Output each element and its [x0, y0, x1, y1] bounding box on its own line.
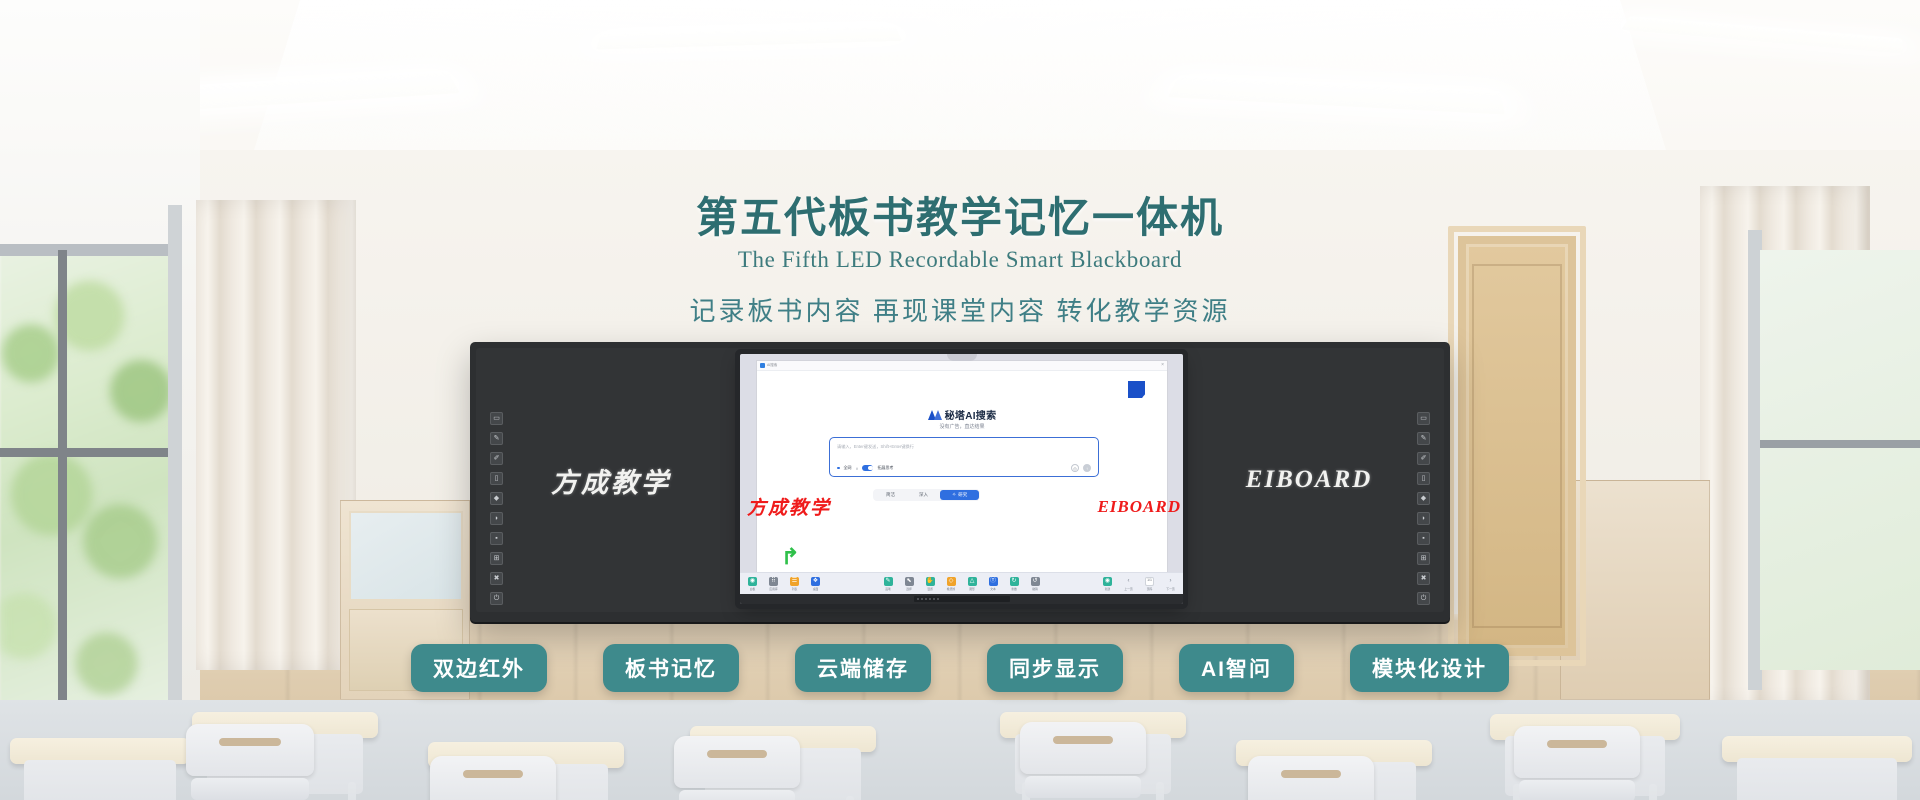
chevron-right-icon: › [1166, 577, 1175, 586]
toolbar-center-group[interactable]: ✎ 画笔 ⬉ 选择 ✋ 漫游 ◇ 橡皮擦 △ 图形 Ⓣ 文本 [881, 577, 1043, 591]
shape-icon: △ [968, 577, 977, 586]
tool-pan[interactable]: ✋ 漫游 [923, 577, 938, 591]
tab-concise[interactable]: 简洁 [874, 490, 907, 500]
tool-label: 重做 [1011, 587, 1017, 591]
pen-icon: ✎ [884, 577, 893, 586]
tool-label: 撤销 [1032, 587, 1038, 591]
tool-app-library[interactable]: ⠿ 应用库 [766, 577, 781, 591]
tool-select[interactable]: ⬉ 选择 [902, 577, 917, 591]
desktop-icon: ❖ [811, 577, 820, 586]
page-tagline: 记录板书内容 再现课堂内容 转化教学资源 [0, 291, 1920, 328]
feature-pill-modular-design[interactable]: 模块化设计 [1350, 644, 1509, 692]
chalk-text-left: 方成教学 [551, 461, 671, 500]
screen-bottom-toolbar[interactable]: ◉ 白板 ⠿ 应用库 ☰ 列表 ❖ 桌面 ✎ 画笔 ⬉ 选择 [740, 572, 1183, 594]
screen-chin [740, 594, 1183, 604]
feature-pill-row: 双边红外 板书记忆 云端储存 同步显示 AI智问 模块化设计 [0, 644, 1920, 692]
metaso-mountain-icon [928, 410, 942, 420]
source-dot-icon [837, 467, 840, 470]
page-subtitle: The Fifth LED Recordable Smart Blackboar… [0, 247, 1920, 273]
search-source-label[interactable]: 全网 [844, 465, 852, 471]
tool-label: 下一页 [1166, 587, 1174, 591]
tab-research[interactable]: ✧ 研究 [940, 490, 979, 500]
toolbar-left-group[interactable]: ◉ 白板 ⠿ 应用库 ☰ 列表 ❖ 桌面 [745, 577, 823, 591]
tool-label: 页码 [1147, 587, 1153, 591]
search-placeholder: 请输入，Enter键发送，Shift+Enter键换行 [837, 444, 914, 450]
center-display-screen[interactable]: AI搜索 × 秘塔AI搜索 没有广告，直达结果 请输入，Enter键发送，Shi… [740, 354, 1183, 604]
toolbar-right-group[interactable]: ◉ 新建 ‹ 上一页 1/1 页码 › 下一页 [1100, 577, 1178, 591]
tool-label: 列表 [792, 587, 798, 591]
app-icon [760, 363, 765, 368]
app-titlebar: AI搜索 × [757, 361, 1167, 371]
search-actions[interactable]: ◎ ↑ [1071, 464, 1091, 472]
tool-label: 白板 [750, 587, 756, 591]
close-icon[interactable]: × [1161, 363, 1164, 368]
chevron-down-icon[interactable]: ∨ [856, 466, 859, 471]
hand-icon: ✋ [926, 577, 935, 586]
app-body: 秘塔AI搜索 没有广告，直达结果 请输入，Enter键发送，Shift+Ente… [757, 371, 1167, 578]
text-icon: Ⓣ [989, 577, 998, 586]
tool-new-page[interactable]: ◉ 新建 [1100, 577, 1115, 591]
search-mode-tabs[interactable]: 简洁 深入 ✧ 研究 [873, 489, 980, 501]
feature-pill-dual-infrared[interactable]: 双边红外 [411, 644, 547, 692]
ai-search-app-window[interactable]: AI搜索 × 秘塔AI搜索 没有广告，直达结果 请输入，Enter键发送，Shi… [756, 360, 1168, 578]
brand-logo-row: 秘塔AI搜索 [757, 407, 1167, 422]
chalk-text-right: EIBOARD [1246, 466, 1373, 494]
cursor-icon: ⬉ [905, 577, 914, 586]
send-icon[interactable]: ↑ [1083, 464, 1091, 472]
search-options-row[interactable]: 全网 ∨ 拓展思考 ◎ ↑ [837, 464, 1091, 472]
brand-logo-icon [1128, 381, 1145, 398]
tab-research-label: 研究 [958, 492, 967, 498]
tool-label: 桌面 [813, 587, 819, 591]
feature-pill-sync-display[interactable]: 同步显示 [987, 644, 1123, 692]
tool-list[interactable]: ☰ 列表 [787, 577, 802, 591]
tool-label: 选择 [906, 587, 912, 591]
new-page-icon: ◉ [1103, 577, 1112, 586]
device-badge [914, 596, 1010, 602]
whiteboard-icon: ◉ [748, 577, 757, 586]
tool-pen[interactable]: ✎ 画笔 [881, 577, 896, 591]
feature-pill-ai-ask[interactable]: AI智问 [1179, 644, 1294, 692]
tool-label: 应用库 [769, 587, 777, 591]
list-icon: ☰ [790, 577, 799, 586]
tool-prev-page[interactable]: ‹ 上一页 [1121, 577, 1136, 591]
tool-text[interactable]: Ⓣ 文本 [986, 577, 1001, 591]
brand-slogan: 没有广告，直达结果 [757, 423, 1167, 430]
tool-label: 上一页 [1124, 587, 1132, 591]
eraser-icon: ◇ [947, 577, 956, 586]
green-stroke-annotation: ↰ [781, 544, 799, 570]
page-number: 1/1 [1145, 577, 1154, 586]
feature-pill-board-memory[interactable]: 板书记忆 [603, 644, 739, 692]
page-title: 第五代板书教学记忆一体机 [0, 196, 1920, 243]
tool-desktop[interactable]: ❖ 桌面 [808, 577, 823, 591]
cabinet-glass-door [349, 511, 463, 601]
tool-label: 画笔 [885, 587, 891, 591]
screen-notch [947, 354, 977, 361]
camera-icon[interactable]: ◎ [1071, 464, 1079, 472]
search-input-box[interactable]: 请输入，Enter键发送，Shift+Enter键换行 全网 ∨ 拓展思考 ◎ … [829, 437, 1099, 477]
tool-shape[interactable]: △ 图形 [965, 577, 980, 591]
chevron-left-icon: ‹ [1124, 577, 1133, 586]
tool-label: 漫游 [927, 587, 933, 591]
redo-icon: ↻ [1010, 577, 1019, 586]
ceiling-light [1621, 16, 1903, 54]
grid-icon: ⠿ [769, 577, 778, 586]
brand-name: 秘塔AI搜索 [945, 407, 997, 422]
feature-pill-cloud-storage[interactable]: 云端储存 [795, 644, 931, 692]
tool-eraser[interactable]: ◇ 橡皮擦 [944, 577, 959, 591]
blackboard-left-panel[interactable]: 方成教学 [476, 348, 746, 612]
blackboard-right-panel[interactable]: EIBOARD [1174, 348, 1444, 612]
tool-label: 图形 [969, 587, 975, 591]
tab-deep[interactable]: 深入 [907, 490, 940, 500]
tool-undo[interactable]: ↺ 撤销 [1028, 577, 1043, 591]
tool-label: 文本 [990, 587, 996, 591]
tool-label: 新建 [1105, 587, 1111, 591]
tool-redo[interactable]: ↻ 重做 [1007, 577, 1022, 591]
window-mullion [0, 448, 172, 457]
tool-label: 橡皮擦 [947, 587, 955, 591]
handwriting-annotation-en: EIBOARD [1097, 497, 1181, 517]
page-indicator: 1/1 页码 [1142, 577, 1157, 591]
handwriting-annotation-cn: 方成教学 [747, 493, 831, 520]
tool-next-page[interactable]: › 下一页 [1163, 577, 1178, 591]
deep-think-toggle[interactable] [862, 465, 873, 471]
headline-block: 第五代板书教学记忆一体机 The Fifth LED Recordable Sm… [0, 196, 1920, 328]
undo-icon: ↺ [1031, 577, 1040, 586]
deep-think-label: 拓展思考 [877, 465, 893, 471]
app-title: AI搜索 [767, 363, 777, 368]
sparkle-icon: ✧ [952, 492, 956, 498]
tool-whiteboard[interactable]: ◉ 白板 [745, 577, 760, 591]
